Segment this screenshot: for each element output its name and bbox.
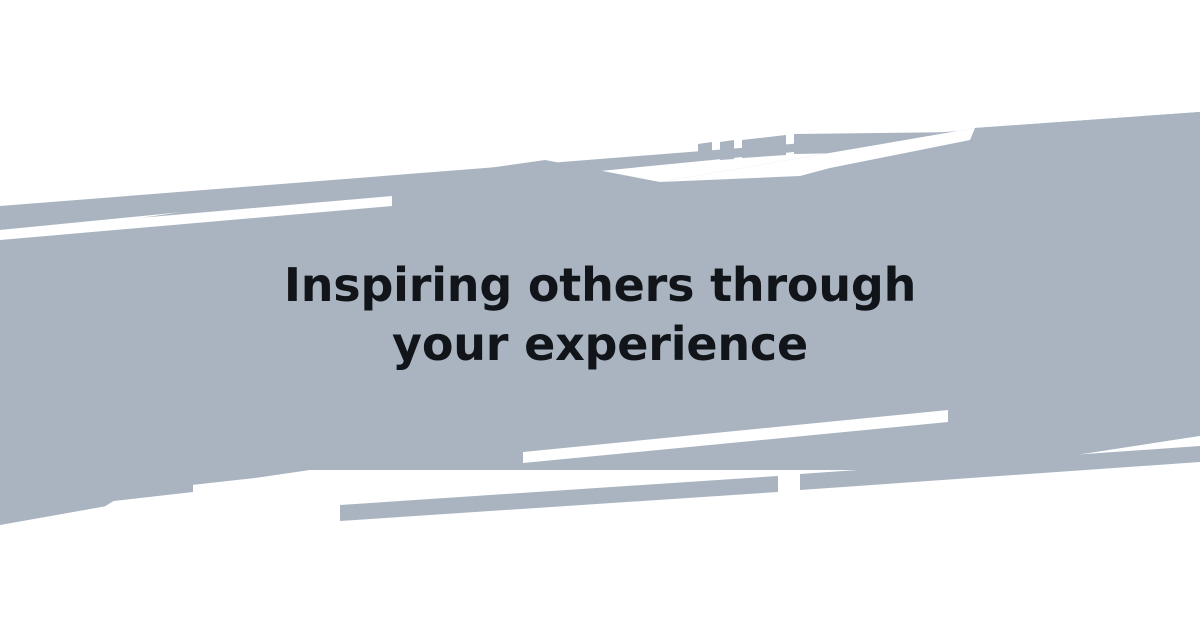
- social-share-banner: Inspiring others through your experience: [0, 0, 1200, 630]
- dash-mark-2: [720, 140, 734, 160]
- dash-mark-3: [742, 135, 786, 158]
- dash-mark-1: [698, 142, 712, 161]
- banner-background-art: [0, 0, 1200, 630]
